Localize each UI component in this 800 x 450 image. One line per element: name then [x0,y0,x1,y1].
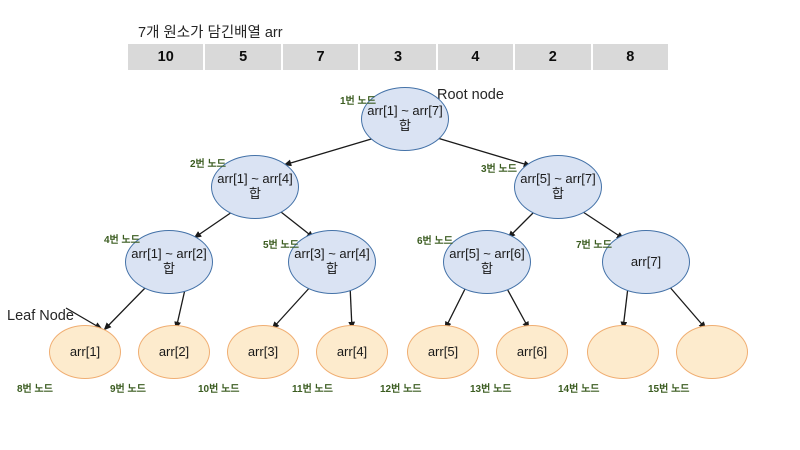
diagram-canvas: 7개 원소가 담긴배열 arr 10573428 Root node Leaf … [0,0,800,450]
node-sum-text: 합 [326,262,338,277]
node-index-label: 9번 노드 [110,380,146,395]
node-sum-text: 합 [249,187,261,202]
node-sum-text: 합 [163,262,175,277]
leaf-node-annotation: Leaf Node [7,308,74,324]
tree-edge [623,287,628,329]
node-index-label: 8번 노드 [17,380,53,395]
tree-edge [505,285,529,329]
root-node-annotation: Root node [437,87,504,103]
leaf-node[interactable]: arr[6] [496,325,568,379]
leaf-node-text: arr[2] [159,345,189,360]
tree-edge [508,212,534,238]
node-range-text: arr[1] ~ arr[7] [367,104,443,119]
node-index-label: 2번 노드 [190,155,226,170]
node-index-label: 14번 노드 [558,380,600,395]
leaf-node[interactable]: arr[3] [227,325,299,379]
node-index-label: 7번 노드 [576,236,612,251]
node-range-text: arr[1] ~ arr[2] [131,247,207,262]
leaf-node[interactable]: arr[1] [49,325,121,379]
node-index-label: 4번 노드 [104,231,140,246]
node-sum-text: 합 [481,262,493,277]
tree-edge [194,212,232,238]
node-index-label: 5번 노드 [263,236,299,251]
node-range-text: arr[1] ~ arr[4] [217,172,293,187]
leaf-node-text: arr[6] [517,345,547,360]
node-sum-text: 합 [552,187,564,202]
node-index-label: 6번 노드 [417,232,453,247]
internal-node[interactable]: arr[5] ~ arr[7]합 [514,155,602,219]
internal-node[interactable]: arr[5] ~ arr[6]합 [443,230,531,294]
leaf-node-text: arr[3] [248,345,278,360]
tree-edge [350,285,352,329]
node-index-label: 1번 노드 [340,92,376,107]
node-range-text: arr[5] ~ arr[7] [520,172,596,187]
tree-edge [583,212,624,239]
node-index-label: 15번 노드 [648,380,690,395]
node-index-label: 10번 노드 [198,380,240,395]
node-index-label: 12번 노드 [380,380,422,395]
leaf-node[interactable]: arr[2] [138,325,210,379]
node-index-label: 11번 노드 [292,380,333,395]
leaf-node[interactable] [676,325,748,379]
internal-node[interactable]: arr[3] ~ arr[4]합 [288,230,376,294]
leaf-node-text: arr[1] [70,345,100,360]
node-sum-text: 합 [399,119,411,134]
leaf-node[interactable]: arr[5] [407,325,479,379]
leaf-node[interactable] [587,325,659,379]
internal-node[interactable]: arr[7] [602,230,690,294]
tree-edge [668,285,706,329]
tree-edge [104,285,148,330]
node-range-text: arr[3] ~ arr[4] [294,247,370,262]
leaf-node-text: arr[4] [337,345,367,360]
leaf-node[interactable]: arr[4] [316,325,388,379]
node-range-text: arr[5] ~ arr[6] [449,247,525,262]
leaf-node-text: arr[5] [428,345,458,360]
node-index-label: 13번 노드 [470,380,512,395]
tree-edge [272,285,312,329]
tree-edge [445,285,467,329]
node-index-label: 3번 노드 [481,160,517,175]
node-range-text: arr[7] [631,255,661,270]
tree-edge [284,137,378,165]
